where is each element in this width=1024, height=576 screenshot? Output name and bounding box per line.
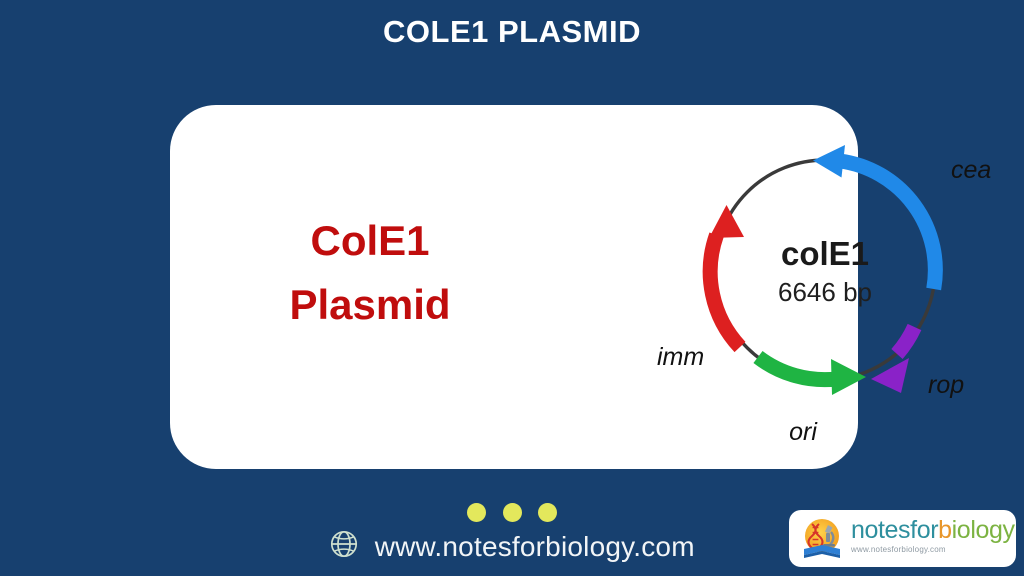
dot-2 xyxy=(503,503,522,522)
gene-label-rop: rop xyxy=(928,371,964,399)
plasmid-size-label: 6646 bp xyxy=(778,277,872,307)
globe-icon xyxy=(329,529,359,564)
feature-arc-rop xyxy=(871,327,915,393)
gene-label-imm: imm xyxy=(657,343,704,371)
caption-line-1: ColE1 xyxy=(200,209,540,273)
brand-wordmark: notesforbiology www.notesforbiology.com xyxy=(851,517,1011,554)
plasmid-name-label: colE1 xyxy=(781,235,869,272)
content-card: ColE1 Plasmid xyxy=(170,105,858,469)
microscope-dna-book-logo-icon xyxy=(798,515,846,563)
brand-word-part-1: notesfor xyxy=(851,516,938,544)
feature-arc-ori xyxy=(758,357,866,395)
brand-word-part-3: iology xyxy=(952,516,1015,544)
brand-subtitle: www.notesforbiology.com xyxy=(851,545,1011,554)
caption-line-2: Plasmid xyxy=(200,273,540,337)
gene-label-cea: cea xyxy=(951,156,991,184)
brand-logo-card[interactable]: notesforbiology www.notesforbiology.com xyxy=(789,510,1016,567)
gene-label-ori: ori xyxy=(789,418,818,446)
feature-arc-imm xyxy=(709,205,744,347)
dot-3 xyxy=(538,503,557,522)
plasmid-map-diagram: colE1 6646 bp cea rop ori imm xyxy=(625,105,1024,469)
brand-word-part-2: b xyxy=(938,516,952,544)
website-url[interactable]: www.notesforbiology.com xyxy=(375,531,695,563)
plasmid-caption: ColE1 Plasmid xyxy=(200,209,540,337)
page-title: COLE1 PLASMID xyxy=(0,14,1024,50)
dot-1 xyxy=(467,503,486,522)
slide-canvas: COLE1 PLASMID ColE1 Plasmid xyxy=(0,0,1024,576)
